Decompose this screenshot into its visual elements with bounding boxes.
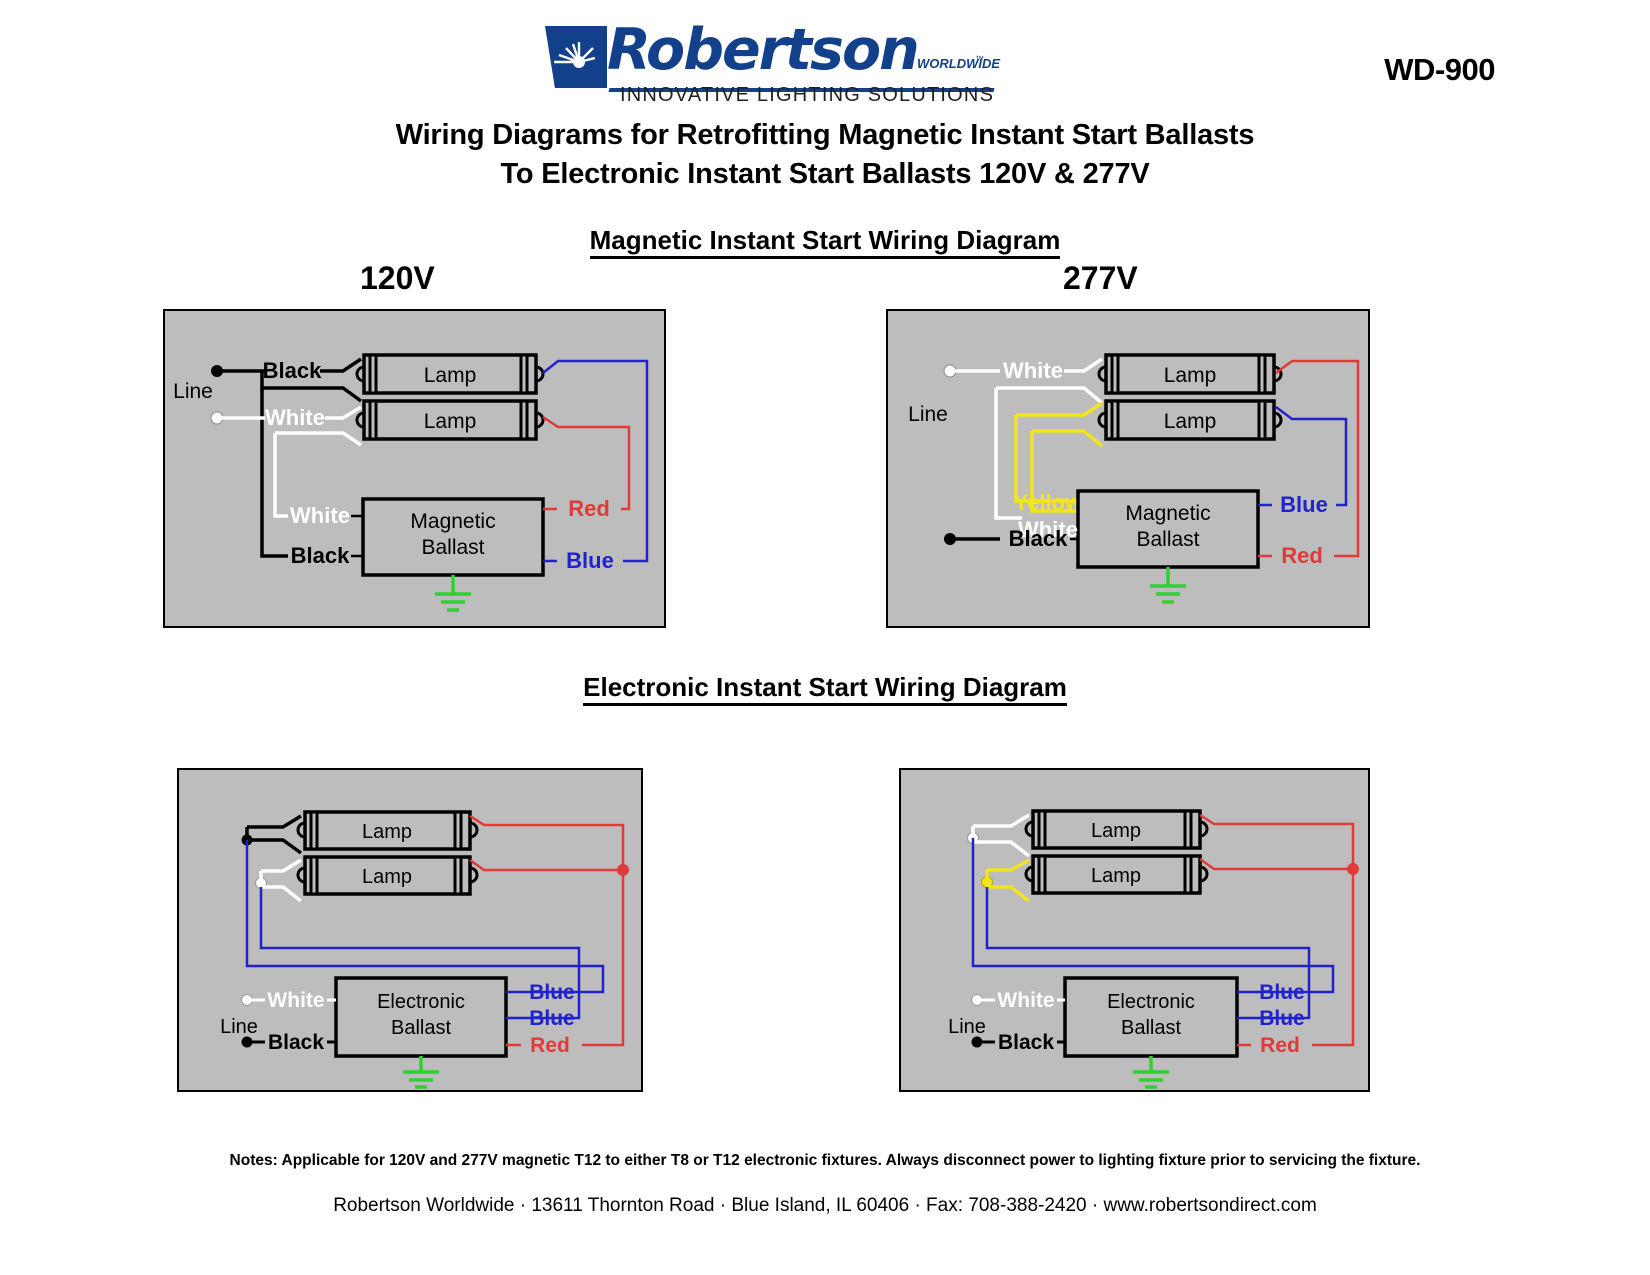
ballast-label-line1: Electronic	[377, 991, 465, 1013]
wire-label-black-ballast: Black	[291, 543, 350, 568]
line-label: Line	[908, 403, 948, 426]
wire-label-yellow: Yellow	[1014, 490, 1083, 515]
lamp-label-1: Lamp	[1091, 820, 1141, 842]
wire-label-red: Red	[530, 1034, 570, 1057]
page-title-line1: Wiring Diagrams for Retrofitting Magneti…	[0, 116, 1650, 155]
wire-label-black-ballast: Black	[1009, 526, 1068, 551]
ballast-label-line2: Ballast	[391, 1017, 451, 1039]
wire-label-blue: Blue	[566, 548, 614, 573]
wire-label-red: Red	[1260, 1034, 1300, 1057]
wire-label-white-top: White	[1003, 358, 1063, 383]
trademark-symbol: ™	[975, 54, 984, 64]
ballast-label-line2: Ballast	[421, 536, 484, 559]
lamp-label-2: Lamp	[424, 410, 477, 433]
section-heading-magnetic-text: Magnetic Instant Start Wiring Diagram	[590, 225, 1061, 259]
document-code: WD-900	[1384, 52, 1495, 88]
wire-label-white-line: White	[997, 989, 1054, 1012]
lamp-1: Lamp	[298, 812, 477, 849]
ballast-label-line1: Magnetic	[410, 510, 495, 533]
ballast-label-line2: Ballast	[1136, 528, 1199, 551]
lamp-label-1: Lamp	[1164, 364, 1217, 387]
junction-dot-red	[617, 864, 629, 876]
wire-label-black-line: Black	[998, 1031, 1054, 1054]
diagram-electronic-277v-svg: Lamp Lamp Electronic Ballast White Line …	[901, 770, 1368, 1090]
ground-symbol	[1133, 1056, 1169, 1087]
wire-label-blue-1: Blue	[1259, 981, 1305, 1004]
wire-label-black-top: Black	[263, 358, 322, 383]
ground-symbol	[403, 1056, 439, 1087]
ballast-label-line1: Magnetic	[1125, 502, 1210, 525]
ballast-label-line1: Electronic	[1107, 991, 1195, 1013]
ballast-box: Magnetic Ballast	[1078, 491, 1258, 567]
lamp-1: Lamp	[1026, 811, 1207, 848]
lamp-2: Lamp	[357, 401, 543, 439]
diagram-electronic-120v-svg: Lamp Lamp Electronic Ballast White Line …	[179, 770, 641, 1090]
ballast-box: Magnetic Ballast	[363, 499, 543, 575]
wire-label-blue-2: Blue	[1259, 1007, 1305, 1030]
line-label: Line	[948, 1016, 986, 1038]
section-heading-electronic-text: Electronic Instant Start Wiring Diagram	[583, 672, 1067, 706]
diagram-magnetic-277v-svg: Line White Yellow Lamp Lamp Magnetic Bal…	[888, 311, 1368, 626]
lamp-1: Lamp	[1099, 355, 1281, 393]
wire-label-white-ballast: White	[290, 503, 350, 528]
lamp-label-2: Lamp	[1164, 410, 1217, 433]
ground-symbol	[1150, 567, 1186, 602]
wire-label-black-line: Black	[268, 1031, 324, 1054]
lamp-1: Lamp	[357, 355, 543, 393]
wire-label-blue-1: Blue	[529, 981, 575, 1004]
ground-symbol	[435, 575, 471, 610]
sunburst-icon	[549, 38, 595, 84]
lamp-2: Lamp	[298, 857, 477, 894]
ballast-label-line2: Ballast	[1121, 1017, 1181, 1039]
lamp-label-1: Lamp	[362, 821, 412, 843]
page-title: Wiring Diagrams for Retrofitting Magneti…	[0, 116, 1650, 193]
wire-label-white-line: White	[267, 989, 324, 1012]
footer-address: Robertson Worldwide · 13611 Thornton Roa…	[0, 1195, 1650, 1217]
wire-label-white-top: White	[265, 405, 325, 430]
lamp-label-2: Lamp	[1091, 865, 1141, 887]
brand-wordmark: Robertson	[607, 22, 918, 79]
footer-notes: Notes: Applicable for 120V and 277V magn…	[0, 1152, 1650, 1170]
brand-tagline: INNOVATIVE LIGHTING SOLUTIONS	[620, 84, 994, 107]
line-label: Line	[173, 380, 213, 403]
section-heading-magnetic: Magnetic Instant Start Wiring Diagram	[0, 225, 1650, 256]
diagram-magnetic-120v: Line Black White Lamp Lamp Magnetic Ball…	[163, 309, 666, 628]
lamp-label-2: Lamp	[362, 866, 412, 888]
section-heading-electronic: Electronic Instant Start Wiring Diagram	[0, 672, 1650, 703]
wire-label-red: Red	[1281, 543, 1323, 568]
ballast-box: Electronic Ballast	[336, 978, 506, 1056]
diagram-electronic-277v: Lamp Lamp Electronic Ballast White Line …	[899, 768, 1370, 1092]
junction-dot-red	[1347, 863, 1359, 875]
page-title-line2: To Electronic Instant Start Ballasts 120…	[0, 155, 1650, 194]
voltage-label-277v: 277V	[1063, 260, 1138, 297]
diagram-electronic-120v: Lamp Lamp Electronic Ballast White Line …	[177, 768, 643, 1092]
wire-label-blue-2: Blue	[529, 1007, 575, 1030]
brand-superscript: WORLDWIDE	[917, 56, 1000, 71]
diagram-magnetic-277v: Line White Yellow Lamp Lamp Magnetic Bal…	[886, 309, 1370, 628]
lamp-2: Lamp	[1026, 856, 1207, 893]
voltage-label-120v: 120V	[360, 260, 435, 297]
wire-label-blue: Blue	[1280, 492, 1328, 517]
wire-label-red: Red	[568, 496, 610, 521]
lamp-2: Lamp	[1099, 401, 1281, 439]
diagram-magnetic-120v-svg: Line Black White Lamp Lamp Magnetic Ball…	[165, 311, 664, 626]
line-label: Line	[220, 1016, 258, 1038]
lamp-label-1: Lamp	[424, 364, 477, 387]
ballast-box: Electronic Ballast	[1065, 978, 1237, 1056]
